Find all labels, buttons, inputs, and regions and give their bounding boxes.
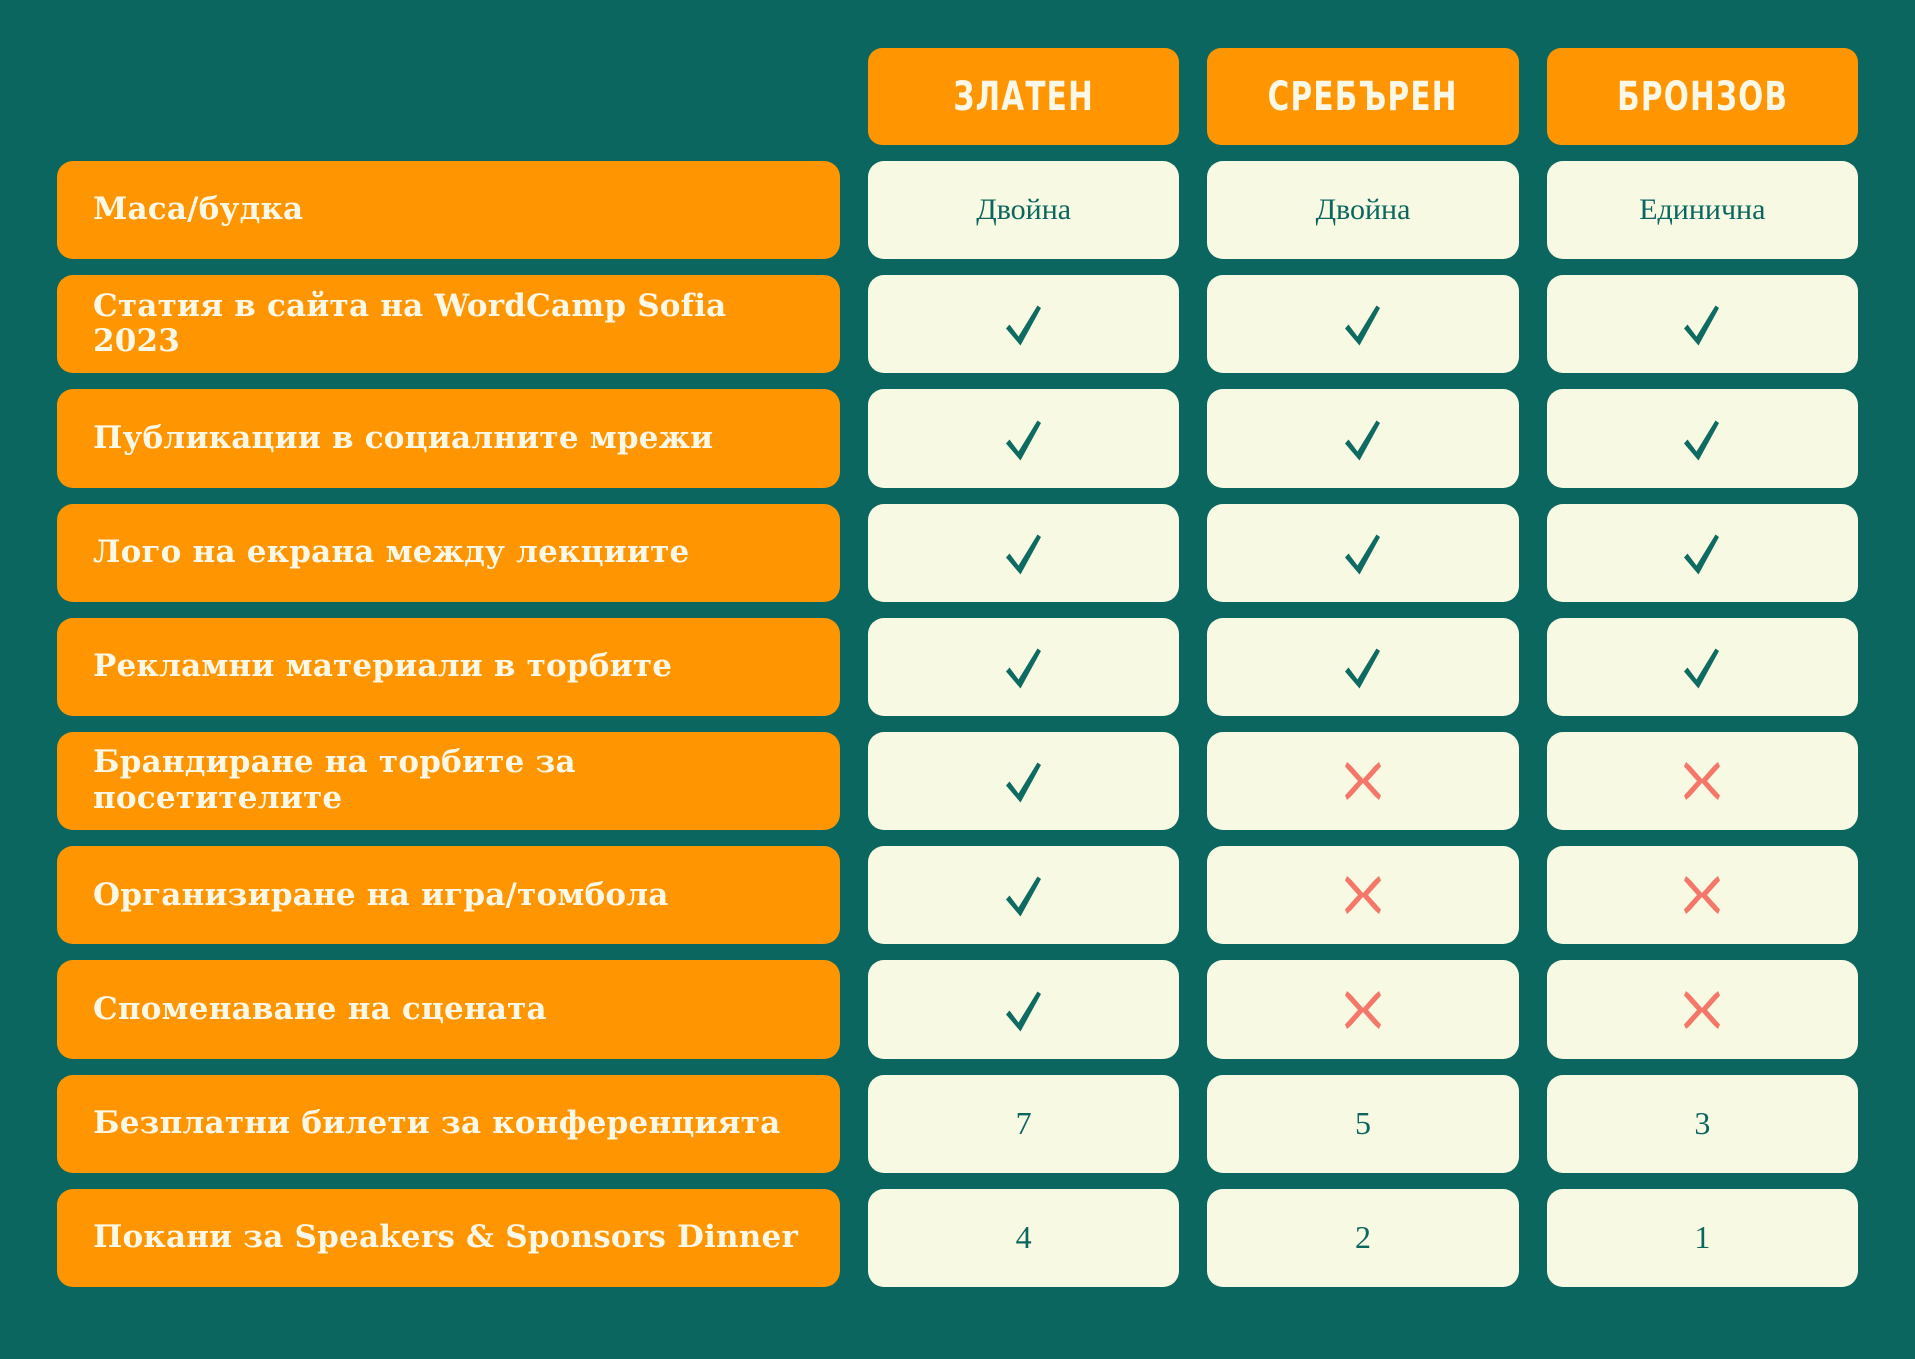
benefit-cell-bronze	[1547, 504, 1858, 602]
tier-header-bronze[interactable]: БРОНЗОВ	[1547, 48, 1858, 145]
cell-column-bronze: Единична	[1547, 161, 1858, 259]
cell-column-silver	[1207, 846, 1518, 944]
tier-column-gold: ЗЛАТЕН	[868, 48, 1179, 145]
benefit-cell-bronze: 1	[1547, 1189, 1858, 1287]
row-label-card: Брандиране на торбите за посетителите	[57, 732, 840, 830]
check-icon	[996, 753, 1052, 809]
cell-column-gold	[868, 846, 1179, 944]
benefit-cell-gold	[868, 846, 1179, 944]
check-icon	[1674, 525, 1730, 581]
benefit-cell-gold: Двойна	[868, 161, 1179, 259]
row-label-card: Безплатни билети за конференцията	[57, 1075, 840, 1173]
tier-header-label-bronze: БРОНЗОВ	[1575, 48, 1830, 145]
benefit-cell-silver: Двойна	[1207, 161, 1518, 259]
row-label-card: Лого на екрана между лекциите	[57, 504, 840, 602]
table-row: Лого на екрана между лекциите	[57, 504, 1858, 602]
check-icon	[1335, 525, 1391, 581]
row-label-column: Организиране на игра/томбола	[57, 846, 840, 944]
check-icon	[1335, 639, 1391, 695]
cell-column-bronze	[1547, 960, 1858, 1058]
benefit-cell-bronze	[1547, 618, 1858, 716]
table-row: Покани за Speakers & Sponsors Dinner421	[57, 1189, 1858, 1287]
cell-column-gold	[868, 960, 1179, 1058]
row-label-column: Покани за Speakers & Sponsors Dinner	[57, 1189, 840, 1287]
check-icon	[996, 982, 1052, 1038]
benefit-cell-gold	[868, 389, 1179, 487]
check-icon	[996, 639, 1052, 695]
cell-column-bronze	[1547, 846, 1858, 944]
cell-column-silver: 5	[1207, 1075, 1518, 1173]
cell-column-silver	[1207, 732, 1518, 830]
benefit-cell-silver	[1207, 732, 1518, 830]
benefit-cell-gold	[868, 960, 1179, 1058]
benefit-cell-silver	[1207, 846, 1518, 944]
benefit-cell-gold	[868, 732, 1179, 830]
row-label-card: Рекламни материали в торбите	[57, 618, 840, 716]
benefit-cell-gold	[868, 275, 1179, 373]
comparison-table: ЗЛАТЕНСРЕБЪРЕНБРОНЗОВМаса/будкаДвойнаДво…	[57, 48, 1858, 1287]
table-row: Безплатни билети за конференцията753	[57, 1075, 1858, 1173]
benefit-cell-gold	[868, 504, 1179, 602]
cell-column-silver	[1207, 389, 1518, 487]
benefit-cell-bronze: Единична	[1547, 161, 1858, 259]
check-icon	[1674, 411, 1730, 467]
cross-icon	[1674, 982, 1730, 1038]
benefit-cell-silver	[1207, 960, 1518, 1058]
cell-column-bronze: 3	[1547, 1075, 1858, 1173]
cell-column-gold	[868, 389, 1179, 487]
benefit-cell-gold: 4	[868, 1189, 1179, 1287]
cell-column-bronze	[1547, 389, 1858, 487]
check-icon	[1335, 411, 1391, 467]
cell-column-silver	[1207, 960, 1518, 1058]
cell-column-gold: Двойна	[868, 161, 1179, 259]
check-icon	[1674, 296, 1730, 352]
cell-column-gold	[868, 618, 1179, 716]
benefit-cell-bronze: 3	[1547, 1075, 1858, 1173]
check-icon	[996, 525, 1052, 581]
check-icon	[996, 411, 1052, 467]
table-row: Статия в сайта на WordCamp Sofia 2023	[57, 275, 1858, 373]
benefit-cell-bronze	[1547, 389, 1858, 487]
benefit-cell-bronze	[1547, 275, 1858, 373]
row-label-column: Рекламни материали в торбите	[57, 618, 840, 716]
row-label-column: Брандиране на торбите за посетителите	[57, 732, 840, 830]
tier-column-bronze: БРОНЗОВ	[1547, 48, 1858, 145]
check-icon	[1674, 639, 1730, 695]
cross-icon	[1335, 867, 1391, 923]
row-label-column: Маса/будка	[57, 161, 840, 259]
row-label-card: Статия в сайта на WordCamp Sofia 2023	[57, 275, 840, 373]
cell-column-bronze	[1547, 275, 1858, 373]
benefit-cell-bronze	[1547, 960, 1858, 1058]
table-header-row: ЗЛАТЕНСРЕБЪРЕНБРОНЗОВ	[57, 48, 1858, 145]
cell-column-gold	[868, 275, 1179, 373]
cell-column-bronze	[1547, 618, 1858, 716]
cell-column-gold	[868, 732, 1179, 830]
benefit-cell-silver: 2	[1207, 1189, 1518, 1287]
row-label-card: Споменаване на сцената	[57, 960, 840, 1058]
table-row: Споменаване на сцената	[57, 960, 1858, 1058]
benefit-cell-gold: 7	[868, 1075, 1179, 1173]
benefit-cell-silver	[1207, 275, 1518, 373]
cell-column-silver	[1207, 618, 1518, 716]
check-icon	[996, 867, 1052, 923]
cell-column-silver	[1207, 504, 1518, 602]
benefit-cell-silver: 5	[1207, 1075, 1518, 1173]
tier-header-gold[interactable]: ЗЛАТЕН	[868, 48, 1179, 145]
cell-column-silver: 2	[1207, 1189, 1518, 1287]
cell-column-bronze	[1547, 732, 1858, 830]
cell-column-silver	[1207, 275, 1518, 373]
row-label-column: Безплатни билети за конференцията	[57, 1075, 840, 1173]
cross-icon	[1674, 867, 1730, 923]
table-row: Маса/будкаДвойнаДвойнаЕдинична	[57, 161, 1858, 259]
benefit-cell-silver	[1207, 389, 1518, 487]
cross-icon	[1335, 753, 1391, 809]
cell-column-gold: 7	[868, 1075, 1179, 1173]
row-label-card: Организиране на игра/томбола	[57, 846, 840, 944]
check-icon	[1335, 296, 1391, 352]
cell-column-bronze	[1547, 504, 1858, 602]
tier-header-label-silver: СРЕБЪРЕН	[1235, 48, 1490, 145]
cell-column-gold	[868, 504, 1179, 602]
row-label-card: Маса/будка	[57, 161, 840, 259]
check-icon	[996, 296, 1052, 352]
tier-header-silver[interactable]: СРЕБЪРЕН	[1207, 48, 1518, 145]
row-label-column: Споменаване на сцената	[57, 960, 840, 1058]
table-row: Рекламни материали в торбите	[57, 618, 1858, 716]
benefit-cell-bronze	[1547, 732, 1858, 830]
benefit-cell-silver	[1207, 618, 1518, 716]
cell-column-silver: Двойна	[1207, 161, 1518, 259]
cross-icon	[1335, 982, 1391, 1038]
row-label-column: Публикации в социалните мрежи	[57, 389, 840, 487]
sponsorship-tier-comparison-table: ЗЛАТЕНСРЕБЪРЕНБРОНЗОВМаса/будкаДвойнаДво…	[0, 0, 1915, 1359]
table-row: Брандиране на торбите за посетителите	[57, 732, 1858, 830]
benefit-cell-silver	[1207, 504, 1518, 602]
row-label-card: Публикации в социалните мрежи	[57, 389, 840, 487]
cell-column-bronze: 1	[1547, 1189, 1858, 1287]
benefit-cell-bronze	[1547, 846, 1858, 944]
tier-header-label-gold: ЗЛАТЕН	[896, 48, 1151, 145]
row-label-card: Покани за Speakers & Sponsors Dinner	[57, 1189, 840, 1287]
cell-column-gold: 4	[868, 1189, 1179, 1287]
row-label-column: Лого на екрана между лекциите	[57, 504, 840, 602]
row-label-column: Статия в сайта на WordCamp Sofia 2023	[57, 275, 840, 373]
benefit-cell-gold	[868, 618, 1179, 716]
header-label-spacer	[57, 48, 840, 145]
cross-icon	[1674, 753, 1730, 809]
table-row: Публикации в социалните мрежи	[57, 389, 1858, 487]
tier-column-silver: СРЕБЪРЕН	[1207, 48, 1518, 145]
empty-corner-cell	[57, 48, 840, 145]
table-row: Организиране на игра/томбола	[57, 846, 1858, 944]
